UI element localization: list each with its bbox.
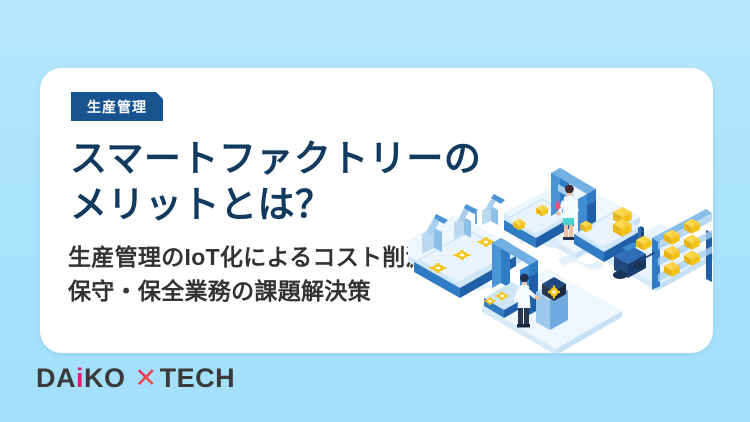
page-subtitle: 生産管理のIoT化によるコスト削減と 保守・保全業務の課題解決策 (68, 240, 452, 308)
logo-text-part3: TECH (160, 365, 236, 392)
logo-text-i: i (76, 365, 84, 392)
category-badge: 生産管理 (71, 92, 163, 121)
smart-factory-illustration (408, 138, 713, 353)
poster-canvas: 生産管理 スマートファクトリーの メリットとは？ 生産管理のIoT化によるコスト… (0, 0, 750, 422)
daiko-xtech-logo: DA i KO ✕ TECH (36, 365, 235, 392)
logo-text-part2: KO (84, 365, 126, 392)
content-card: 生産管理 スマートファクトリーの メリットとは？ 生産管理のIoT化によるコスト… (40, 68, 713, 353)
logo-cross-icon: ✕ (135, 365, 158, 392)
page-subtitle-line-1: 生産管理のIoT化によるコスト削減と (68, 240, 452, 274)
logo-text-part1: DA (36, 365, 76, 392)
category-badge-label: 生産管理 (87, 97, 147, 117)
page-subtitle-line-2: 保守・保全業務の課題解決策 (68, 274, 452, 308)
